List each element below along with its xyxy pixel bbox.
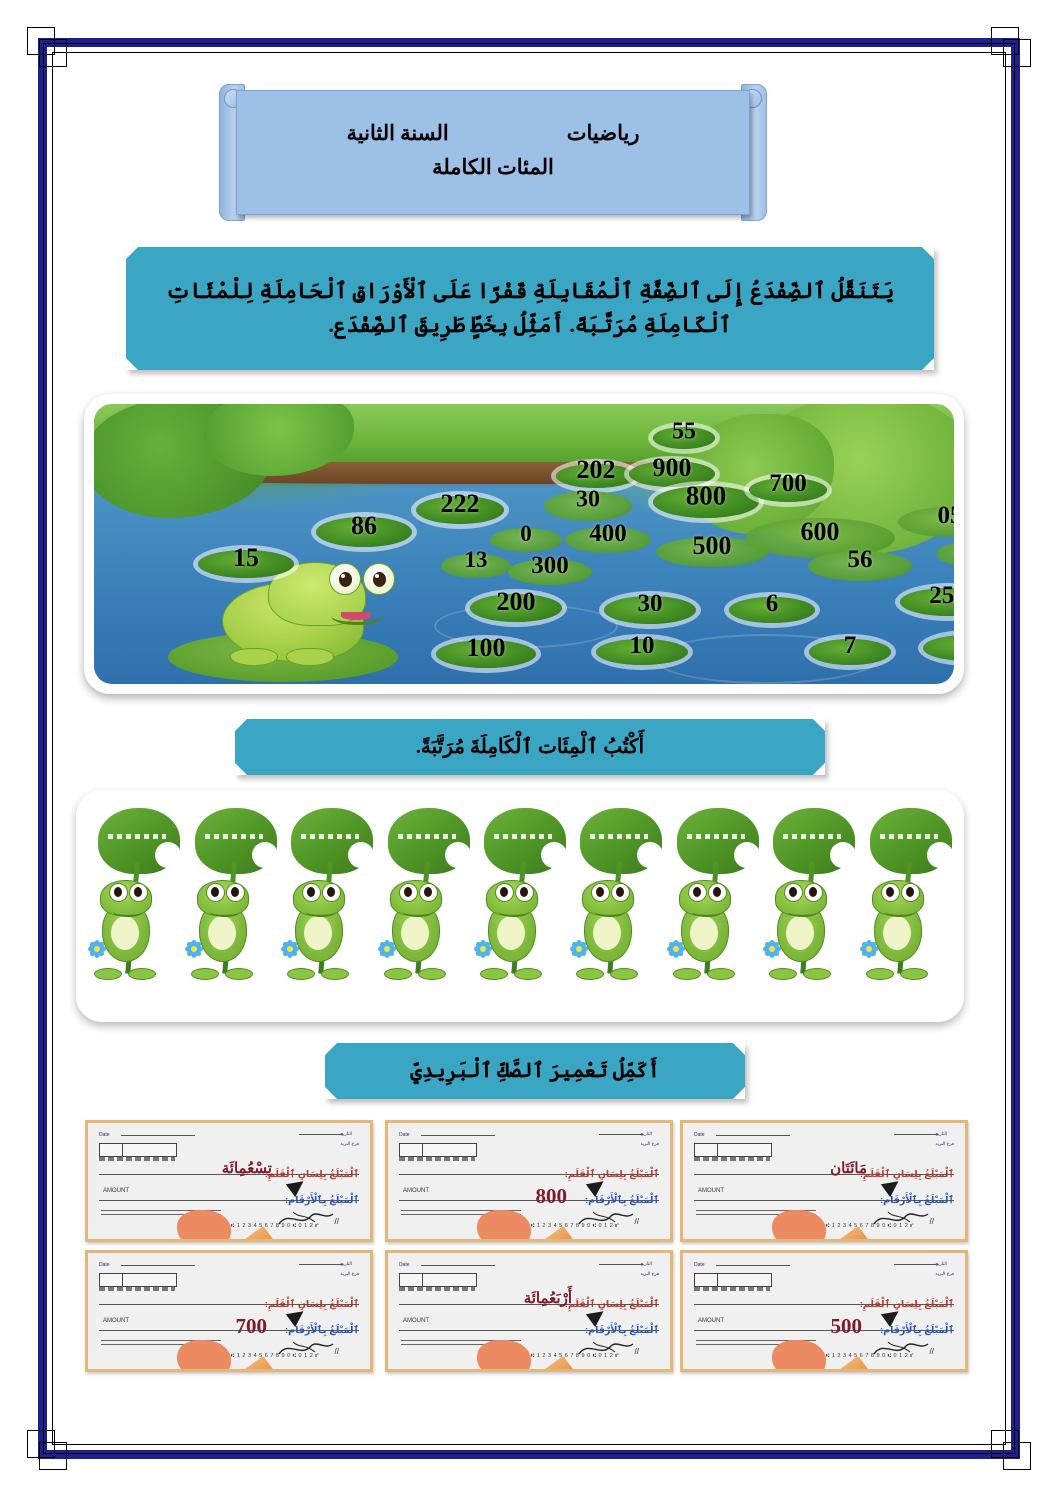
- instruction-main-text: يَتَنَقَّلُ ٱلضِّفْدَعُ إِلَى ٱلضِّفَّةِ…: [126, 275, 934, 342]
- dotted-write-line: [494, 834, 552, 839]
- header-subject: رياضيات: [567, 121, 640, 146]
- cheque-number-box: [99, 1273, 177, 1287]
- header-line-one: رياضياتالسنة الثانية: [237, 121, 749, 146]
- cheque-number-sub: [399, 1287, 475, 1291]
- cheque-date-rule: [121, 1265, 195, 1266]
- lilypad-number[interactable]: 05: [938, 502, 955, 530]
- cheque-number-sub: [99, 1287, 175, 1291]
- cheque-header-rule: [894, 1134, 938, 1135]
- cheque-date-rule: [716, 1265, 790, 1266]
- cheque-grid: Dateﺍﻟﺘﺎﺭﻳﺦﻓﺮﻉ ﺍﻟﺒﺮﻳﺪٱلْمَبْلَغُ بِلِسَا…: [85, 1120, 977, 1378]
- frog-icon: [287, 872, 349, 980]
- dotted-write-line: [590, 834, 648, 839]
- border-corner-bottom-right: [991, 1430, 1031, 1470]
- cheque-number-box: [99, 1143, 177, 1157]
- lilypad-number[interactable]: 500: [693, 531, 732, 561]
- dotted-write-line: [205, 834, 263, 839]
- frog-icon: [480, 872, 542, 980]
- lilypad-number[interactable]: 13: [465, 547, 488, 573]
- lilypad-number[interactable]: 10: [630, 632, 655, 660]
- lilypad-number[interactable]: 800: [686, 481, 727, 512]
- answer-frog-unit: [763, 802, 855, 1002]
- lilypad-number[interactable]: 900: [653, 453, 692, 483]
- cheque[interactable]: Dateﺍﻟﺘﺎﺭﻳﺦﻓﺮﻉ ﺍﻟﺒﺮﻳﺪٱلْمَبْلَغُ بِلِسَا…: [85, 1120, 373, 1242]
- cheque-header-right: ﺍﻟﺘﺎﺭﻳﺦﻓﺮﻉ ﺍﻟﺒﺮﻳﺪ: [935, 1261, 954, 1277]
- cheque-amount-label: AMOUNT: [698, 1318, 724, 1324]
- water-flower-icon: [378, 940, 396, 958]
- dotted-write-line: [108, 834, 166, 839]
- frog-icon: [673, 872, 735, 980]
- cheque-number-box: [399, 1273, 477, 1287]
- cheque[interactable]: Dateﺍﻟﺘﺎﺭﻳﺦﻓﺮﻉ ﺍﻟﺒﺮﻳﺪٱلْمَبْلَغُ بِلِسَا…: [680, 1120, 968, 1242]
- water-flower-icon: [185, 940, 203, 958]
- cheque-date-label: Date: [399, 1262, 410, 1268]
- cheque-digits-value[interactable]: 700: [236, 1314, 268, 1339]
- header-scroll-banner: رياضياتالسنة الثانية المئات الكاملة: [219, 84, 767, 221]
- cheque-header-right: ﺍﻟﺘﺎﺭﻳﺦﻓﺮﻉ ﺍﻟﺒﺮﻳﺪ: [640, 1261, 659, 1277]
- instruction-banner-cheque: أَكَمِّلُ تَعْمِيرَ ٱلصَّكِّ ٱلْبَرِيدِي…: [325, 1043, 745, 1099]
- cheque-number-box: [694, 1273, 772, 1287]
- water-flower-icon: [88, 940, 106, 958]
- frog-icon: [866, 872, 928, 980]
- lilypad-number[interactable]: 222: [441, 489, 480, 519]
- pond-illustration-card: 5520290030222800700860400500600051513300…: [84, 394, 964, 694]
- cheque[interactable]: Dateﺍﻟﺘﺎﺭﻳﺦﻓﺮﻉ ﺍﻟﺒﺮﻳﺪٱلْمَبْلَغُ بِلِسَا…: [385, 1120, 673, 1242]
- cheque-header-right: ﺍﻟﺘﺎﺭﻳﺦﻓﺮﻉ ﺍﻟﺒﺮﻳﺪ: [340, 1131, 359, 1147]
- lilypad-number[interactable]: 6: [766, 590, 779, 618]
- cheque-number-sub: [694, 1287, 770, 1291]
- answer-frog-unit: [88, 802, 180, 1002]
- cheque-amount-label: AMOUNT: [103, 1318, 129, 1324]
- answer-frog-unit: [667, 802, 759, 1002]
- lilypad-number[interactable]: 700: [769, 470, 807, 498]
- cheque-amount-label: AMOUNT: [403, 1188, 429, 1194]
- cheque-amount-label: AMOUNT: [103, 1188, 129, 1194]
- cheque-date-rule: [421, 1135, 495, 1136]
- header-lesson-title: المئات الكاملة: [237, 155, 749, 180]
- lilypad-number[interactable]: 202: [577, 455, 616, 485]
- cheque-header-rule: [599, 1264, 643, 1265]
- cheque-date-rule: [421, 1265, 495, 1266]
- lilypad-number[interactable]: 200: [497, 587, 536, 617]
- frog-icon: [576, 872, 638, 980]
- answer-frog-unit: [860, 802, 952, 1002]
- pencil-icon: [183, 1172, 303, 1242]
- cheque-date-label: Date: [399, 1132, 410, 1138]
- lilypad-number[interactable]: 56: [848, 546, 873, 574]
- answer-frog-unit: [378, 802, 470, 1002]
- water-flower-icon: [667, 940, 685, 958]
- lilypad-number[interactable]: 86: [351, 511, 377, 541]
- lilypad: [936, 540, 954, 568]
- water-flower-icon: [281, 940, 299, 958]
- cheque-number-sub: [399, 1157, 475, 1161]
- header-year: السنة الثانية: [347, 121, 449, 146]
- pencil-icon: [483, 1302, 603, 1372]
- instruction-banner-main: يَتَنَقَّلُ ٱلضِّفْدَعُ إِلَى ٱلضِّفَّةِ…: [126, 247, 934, 370]
- frog-icon: [94, 872, 156, 980]
- cheque-date-label: Date: [99, 1262, 110, 1268]
- cheque[interactable]: Dateﺍﻟﺘﺎﺭﻳﺦﻓﺮﻉ ﺍﻟﺒﺮﻳﺪٱلْمَبْلَغُ بِلِسَا…: [85, 1250, 373, 1372]
- cheque-date-rule: [121, 1135, 195, 1136]
- cheque-words-value[interactable]: أَرْبَعُمِائَة: [524, 1289, 572, 1308]
- cheque-amount-label: AMOUNT: [698, 1188, 724, 1194]
- border-corner-bottom-left: [27, 1430, 67, 1470]
- cheque-date-rule: [716, 1135, 790, 1136]
- dotted-write-line: [301, 834, 359, 839]
- cheque-number-box: [694, 1143, 772, 1157]
- lilypad-number[interactable]: 30: [638, 590, 663, 618]
- lilypad-number[interactable]: 0: [520, 521, 532, 547]
- cheque-number-sub: [99, 1157, 175, 1161]
- answer-frog-unit: [570, 802, 662, 1002]
- cheque-date-label: Date: [694, 1262, 705, 1268]
- lilypad-number[interactable]: 400: [589, 520, 627, 548]
- answer-frog-unit: [281, 802, 373, 1002]
- lilypad-number[interactable]: 600: [801, 517, 840, 547]
- worksheet-page: رياضياتالسنة الثانية المئات الكاملة يَتَ…: [0, 0, 1058, 1497]
- cheque-header-rule: [894, 1264, 938, 1265]
- cheque-header-right: ﺍﻟﺘﺎﺭﻳﺦﻓﺮﻉ ﺍﻟﺒﺮﻳﺪ: [640, 1131, 659, 1147]
- cheque-words-value[interactable]: تِسْعُمِائَة: [222, 1159, 272, 1178]
- cheque[interactable]: Dateﺍﻟﺘﺎﺭﻳﺦﻓﺮﻉ ﺍﻟﺒﺮﻳﺪٱلْمَبْلَغُ بِلِسَا…: [680, 1250, 968, 1372]
- instruction-cheque-text: أَكَمِّلُ تَعْمِيرَ ٱلصَّكِّ ٱلْبَرِيدِي…: [392, 1056, 677, 1087]
- dotted-write-line: [687, 834, 745, 839]
- cheque-header-rule: [299, 1264, 343, 1265]
- border-corner-top-left: [27, 27, 67, 67]
- cheque-date-label: Date: [694, 1132, 705, 1138]
- cheque-header-right: ﺍﻟﺘﺎﺭﻳﺦﻓﺮﻉ ﺍﻟﺒﺮﻳﺪ: [935, 1131, 954, 1147]
- water-flower-icon: [474, 940, 492, 958]
- dotted-write-line: [398, 834, 456, 839]
- instruction-banner-write-ordered: أَكْتُبُ ٱلْمِئَات ٱلْكَامِلَةَ مُرَتَّب…: [235, 719, 825, 775]
- pencil-icon: [778, 1172, 898, 1242]
- border-corner-top-right: [991, 27, 1031, 67]
- cheque-date-label: Date: [99, 1132, 110, 1138]
- frog-icon: [769, 872, 831, 980]
- lilypad-number[interactable]: 30: [576, 487, 600, 514]
- cheque-number-box: [399, 1143, 477, 1157]
- cheque-header-rule: [599, 1134, 643, 1135]
- answer-frog-unit: [185, 802, 277, 1002]
- cheque-digits-value[interactable]: 800: [536, 1184, 568, 1209]
- lilypad-number[interactable]: 100: [467, 633, 506, 663]
- lilypad-number[interactable]: 55: [672, 419, 696, 446]
- header-scroll-body: رياضياتالسنة الثانية المئات الكاملة: [236, 90, 750, 215]
- cheque[interactable]: Dateﺍﻟﺘﺎﺭﻳﺦﻓﺮﻉ ﺍﻟﺒﺮﻳﺪٱلْمَبْلَغُ بِلِسَا…: [385, 1250, 673, 1372]
- cheque-header-rule: [299, 1134, 343, 1135]
- water-flower-icon: [860, 940, 878, 958]
- cheque-amount-label: AMOUNT: [403, 1318, 429, 1324]
- cheque-header-right: ﺍﻟﺘﺎﺭﻳﺦﻓﺮﻉ ﺍﻟﺒﺮﻳﺪ: [340, 1261, 359, 1277]
- dotted-write-line: [783, 834, 841, 839]
- lilypad-number[interactable]: 256: [929, 582, 954, 610]
- cheque-number-sub: [694, 1157, 770, 1161]
- lilypad-number[interactable]: 15: [233, 543, 259, 573]
- cheque-words-value[interactable]: مَائَتَان: [830, 1159, 867, 1178]
- frog-icon: [191, 872, 253, 980]
- lilypad-number[interactable]: 7: [844, 632, 857, 660]
- answer-frog-unit: [474, 802, 566, 1002]
- water-flower-icon: [763, 940, 781, 958]
- lilypad: [923, 635, 954, 661]
- water-flower-icon: [570, 940, 588, 958]
- answer-frogs-card: [76, 790, 964, 1022]
- answer-frogs-row: [86, 802, 954, 1012]
- instruction-write-ordered-text: أَكْتُبُ ٱلْمِئَات ٱلْكَامِلَةَ مُرَتَّب…: [398, 732, 662, 763]
- pond-scene: 5520290030222800700860400500600051513300…: [94, 404, 954, 684]
- lilypad-number[interactable]: 300: [531, 552, 569, 580]
- frog-icon: [384, 872, 446, 980]
- cheque-digits-value[interactable]: 500: [831, 1314, 863, 1339]
- dotted-write-line: [880, 834, 938, 839]
